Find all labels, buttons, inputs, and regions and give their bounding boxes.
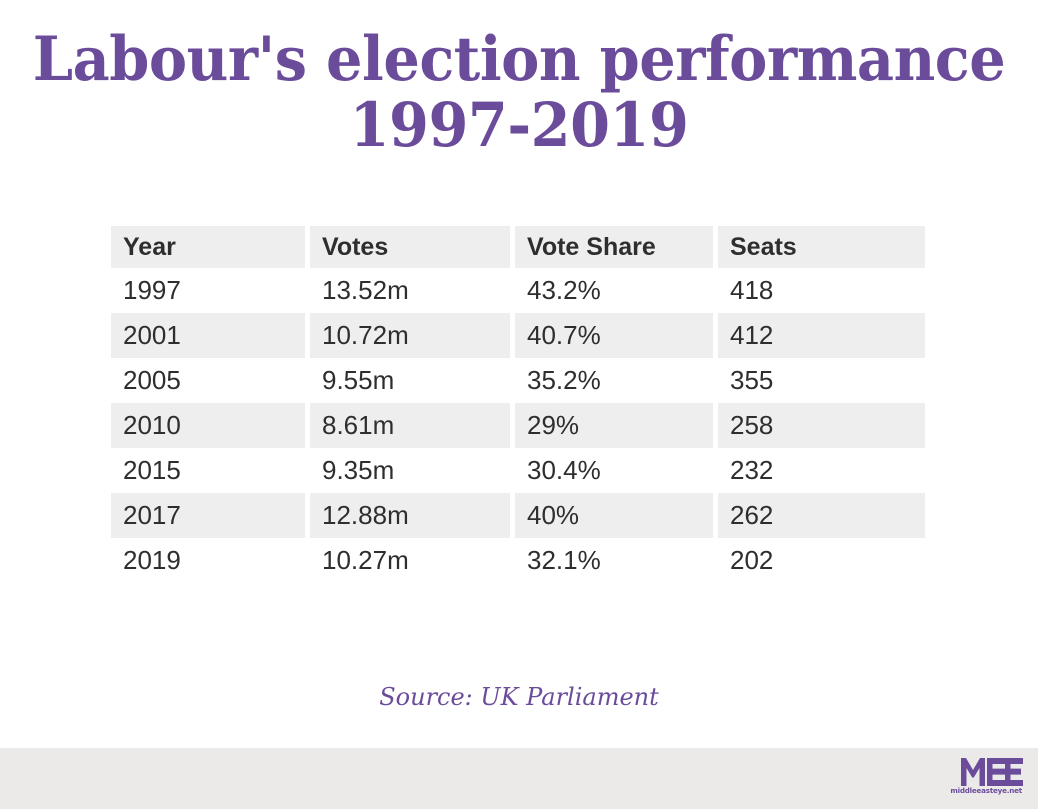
cell-votes: 10.72m <box>310 313 515 358</box>
column-header-seats: Seats <box>718 226 925 268</box>
cell-seats: 418 <box>718 268 925 313</box>
table-row: 1997 13.52m 43.2% 418 <box>111 268 925 313</box>
cell-vote-share: 32.1% <box>515 538 718 583</box>
cell-vote-share: 29% <box>515 403 718 448</box>
cell-seats: 258 <box>718 403 925 448</box>
table-body: 1997 13.52m 43.2% 418 2001 10.72m 40.7% … <box>111 268 925 583</box>
cell-votes: 8.61m <box>310 403 515 448</box>
page-title-line-1: Labour's election performance <box>31 28 1007 92</box>
table-row: 2001 10.72m 40.7% 412 <box>111 313 925 358</box>
cell-year: 2017 <box>111 493 310 538</box>
cell-votes: 9.55m <box>310 358 515 403</box>
table-row: 2017 12.88m 40% 262 <box>111 493 925 538</box>
column-header-vote-share: Vote Share <box>515 226 718 268</box>
cell-votes: 13.52m <box>310 268 515 313</box>
cell-votes: 10.27m <box>310 538 515 583</box>
cell-year: 1997 <box>111 268 310 313</box>
election-results-table-container: Year Votes Vote Share Seats 1997 13.52m … <box>111 226 925 583</box>
cell-year: 2005 <box>111 358 310 403</box>
table-row: 2005 9.55m 35.2% 355 <box>111 358 925 403</box>
cell-votes: 12.88m <box>310 493 515 538</box>
table-header: Year Votes Vote Share Seats <box>111 226 925 268</box>
page-title-line-2: 1997-2019 <box>31 94 1007 158</box>
source-note: Source: UK Parliament <box>0 683 1038 711</box>
election-results-table: Year Votes Vote Share Seats 1997 13.52m … <box>111 226 925 583</box>
mee-logo-url: middleeasteye.net <box>935 787 1022 795</box>
cell-year: 2010 <box>111 403 310 448</box>
footer-bar: middleeasteye.net <box>0 748 1038 809</box>
cell-seats: 412 <box>718 313 925 358</box>
table-row: 2019 10.27m 32.1% 202 <box>111 538 925 583</box>
cell-seats: 262 <box>718 493 925 538</box>
table-header-row: Year Votes Vote Share Seats <box>111 226 925 268</box>
table-row: 2010 8.61m 29% 258 <box>111 403 925 448</box>
page-title: Labour's election performance 1997-2019 <box>0 28 1038 158</box>
cell-seats: 202 <box>718 538 925 583</box>
cell-year: 2019 <box>111 538 310 583</box>
cell-vote-share: 30.4% <box>515 448 718 493</box>
cell-seats: 355 <box>718 358 925 403</box>
cell-vote-share: 35.2% <box>515 358 718 403</box>
cell-year: 2015 <box>111 448 310 493</box>
cell-vote-share: 40% <box>515 493 718 538</box>
mee-logo[interactable]: middleeasteye.net <box>937 758 1023 800</box>
mee-logo-mark <box>961 758 1023 786</box>
column-header-year: Year <box>111 226 310 268</box>
cell-votes: 9.35m <box>310 448 515 493</box>
cell-seats: 232 <box>718 448 925 493</box>
table-row: 2015 9.35m 30.4% 232 <box>111 448 925 493</box>
column-header-votes: Votes <box>310 226 515 268</box>
cell-vote-share: 40.7% <box>515 313 718 358</box>
cell-year: 2001 <box>111 313 310 358</box>
cell-vote-share: 43.2% <box>515 268 718 313</box>
